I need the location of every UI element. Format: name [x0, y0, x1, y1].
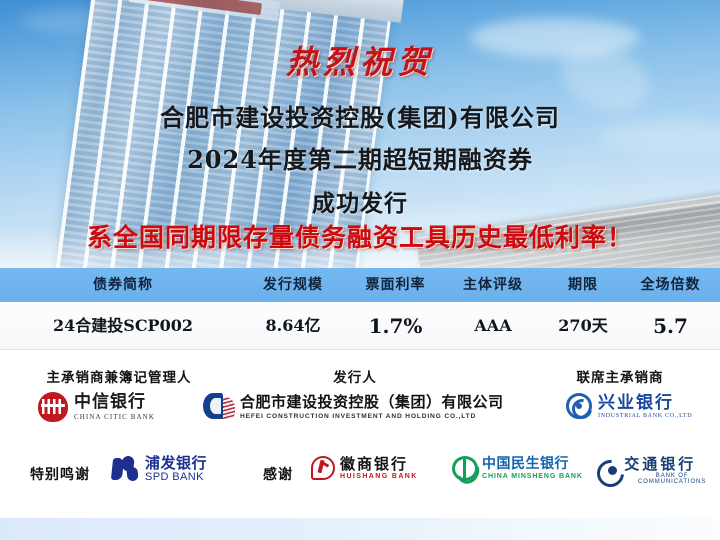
- logo-spd-bank: 浦发银行 SPD BANK: [112, 455, 207, 483]
- bond-table-data-row: 24合建投SCP002 8.64亿 1.7% AAA 270天 5.7: [0, 302, 720, 350]
- citic-wordmark: 中信银行 CHINA CITIC BANK: [74, 393, 155, 421]
- table-bottom-divider: [0, 349, 720, 350]
- huishang-bank-icon: [311, 456, 335, 480]
- spd-name-cn: 浦发银行: [145, 455, 207, 471]
- logo-china-citic-bank: 中信银行 CHINA CITIC BANK: [38, 392, 155, 422]
- column-header-tenor: 期限: [543, 268, 623, 302]
- footer-strip: [0, 518, 720, 540]
- column-header-subscription-multiple: 全场倍数: [623, 268, 718, 302]
- label-lead-underwriter: 主承销商兼簿记管理人: [14, 366, 224, 386]
- spd-name-en: SPD BANK: [145, 471, 207, 483]
- spd-wordmark: 浦发银行 SPD BANK: [145, 455, 207, 483]
- citic-shield-icon: [38, 392, 68, 422]
- column-header-coupon-rate: 票面利率: [348, 268, 443, 302]
- bocom-wordmark: 交通银行 BANK OF COMMUNICATIONS: [624, 456, 720, 485]
- hefei-name-cn: 合肥市建设投资控股（集团）有限公司: [240, 394, 504, 411]
- hefei-name-en: HEFEI CONSTRUCTION INVESTMENT AND HOLDIN…: [240, 413, 504, 420]
- citic-crossbar-shape: [41, 404, 65, 407]
- bond-table-header-row: 债券简称 发行规模 票面利率 主体评级 期限 全场倍数: [0, 268, 720, 302]
- bocom-icon: [597, 459, 619, 483]
- column-header-bond-name: 债券简称: [8, 268, 238, 302]
- logo-hefei-construction-investment: 合肥市建设投资控股（集团）有限公司 HEFEI CONSTRUCTION INV…: [203, 392, 504, 422]
- cell-tenor: 270天: [543, 302, 623, 350]
- congratulations-headline: 热烈祝贺: [0, 37, 720, 83]
- citic-name-en: CHINA CITIC BANK: [74, 413, 155, 421]
- cell-coupon-rate: 1.7%: [348, 302, 443, 350]
- cell-issue-size: 8.64亿: [238, 302, 348, 350]
- industrial-bank-spiral-icon: [566, 393, 592, 419]
- poster-root: 热烈祝贺 合肥市建设投资控股(集团)有限公司 2024年度第二期超短期融资券 成…: [0, 0, 720, 540]
- minsheng-bank-icon: [452, 456, 478, 481]
- bocom-dot-shape: [608, 466, 617, 475]
- label-joint-underwriter: 联席主承销商: [530, 366, 710, 386]
- ib-center-dot-shape: [576, 403, 582, 409]
- bond-issue-line: 2024年度第二期超短期融资券: [0, 140, 720, 175]
- label-thanks: 感谢: [263, 464, 293, 484]
- hero-text-layer: 热烈祝贺 合肥市建设投资控股(集团)有限公司 2024年度第二期超短期融资券 成…: [0, 0, 720, 268]
- ib-name-cn: 兴业银行: [598, 394, 692, 412]
- bocom-name-cn: 交通银行: [624, 456, 720, 472]
- cell-subscription-multiple: 5.7: [623, 302, 718, 350]
- minsheng-bar-shape: [463, 459, 466, 478]
- ib-name-en: INDUSTRIAL BANK CO.,LTD: [598, 413, 692, 419]
- logo-bank-of-communications: 交通银行 BANK OF COMMUNICATIONS: [597, 456, 720, 485]
- spd-bank-icon: [112, 456, 140, 482]
- column-header-issue-size: 发行规模: [238, 268, 348, 302]
- huishang-wordmark: 徽商银行 HUISHANG BANK: [340, 456, 418, 480]
- cell-issuer-rating: AAA: [443, 302, 543, 350]
- hefei-blue-arc-shape: [203, 393, 223, 419]
- bocom-name-en: BANK OF COMMUNICATIONS: [624, 473, 720, 485]
- column-header-issuer-rating: 主体评级: [443, 268, 543, 302]
- huishang-name-en: HUISHANG BANK: [340, 473, 418, 480]
- spd-shape-3: [126, 466, 138, 481]
- hefei-wordmark: 合肥市建设投资控股（集团）有限公司 HEFEI CONSTRUCTION INV…: [240, 394, 504, 420]
- logo-industrial-bank: 兴业银行 INDUSTRIAL BANK CO.,LTD: [566, 393, 692, 419]
- logo-china-minsheng-bank: 中国民生银行 CHINA MINSHENG BANK: [452, 456, 583, 481]
- success-line: 成功发行: [0, 184, 720, 218]
- lowest-rate-slogan: 系全国同期限存量债务融资工具历史最低利率！: [0, 218, 720, 254]
- label-issuer: 发行人: [255, 366, 455, 386]
- issuer-company-line: 合肥市建设投资控股(集团)有限公司: [0, 98, 720, 133]
- logo-huishang-bank: 徽商银行 HUISHANG BANK: [311, 456, 418, 480]
- minsheng-name-en: CHINA MINSHENG BANK: [482, 473, 583, 480]
- huishang-name-cn: 徽商银行: [340, 456, 418, 472]
- minsheng-name-cn: 中国民生银行: [482, 457, 583, 472]
- cell-bond-name: 24合建投SCP002: [8, 302, 238, 350]
- label-special-thanks: 特别鸣谢: [30, 464, 90, 484]
- industrial-bank-wordmark: 兴业银行 INDUSTRIAL BANK CO.,LTD: [598, 394, 692, 419]
- hefei-swoosh-icon: [203, 392, 235, 422]
- citic-name-cn: 中信银行: [74, 393, 155, 411]
- minsheng-wordmark: 中国民生银行 CHINA MINSHENG BANK: [482, 457, 583, 480]
